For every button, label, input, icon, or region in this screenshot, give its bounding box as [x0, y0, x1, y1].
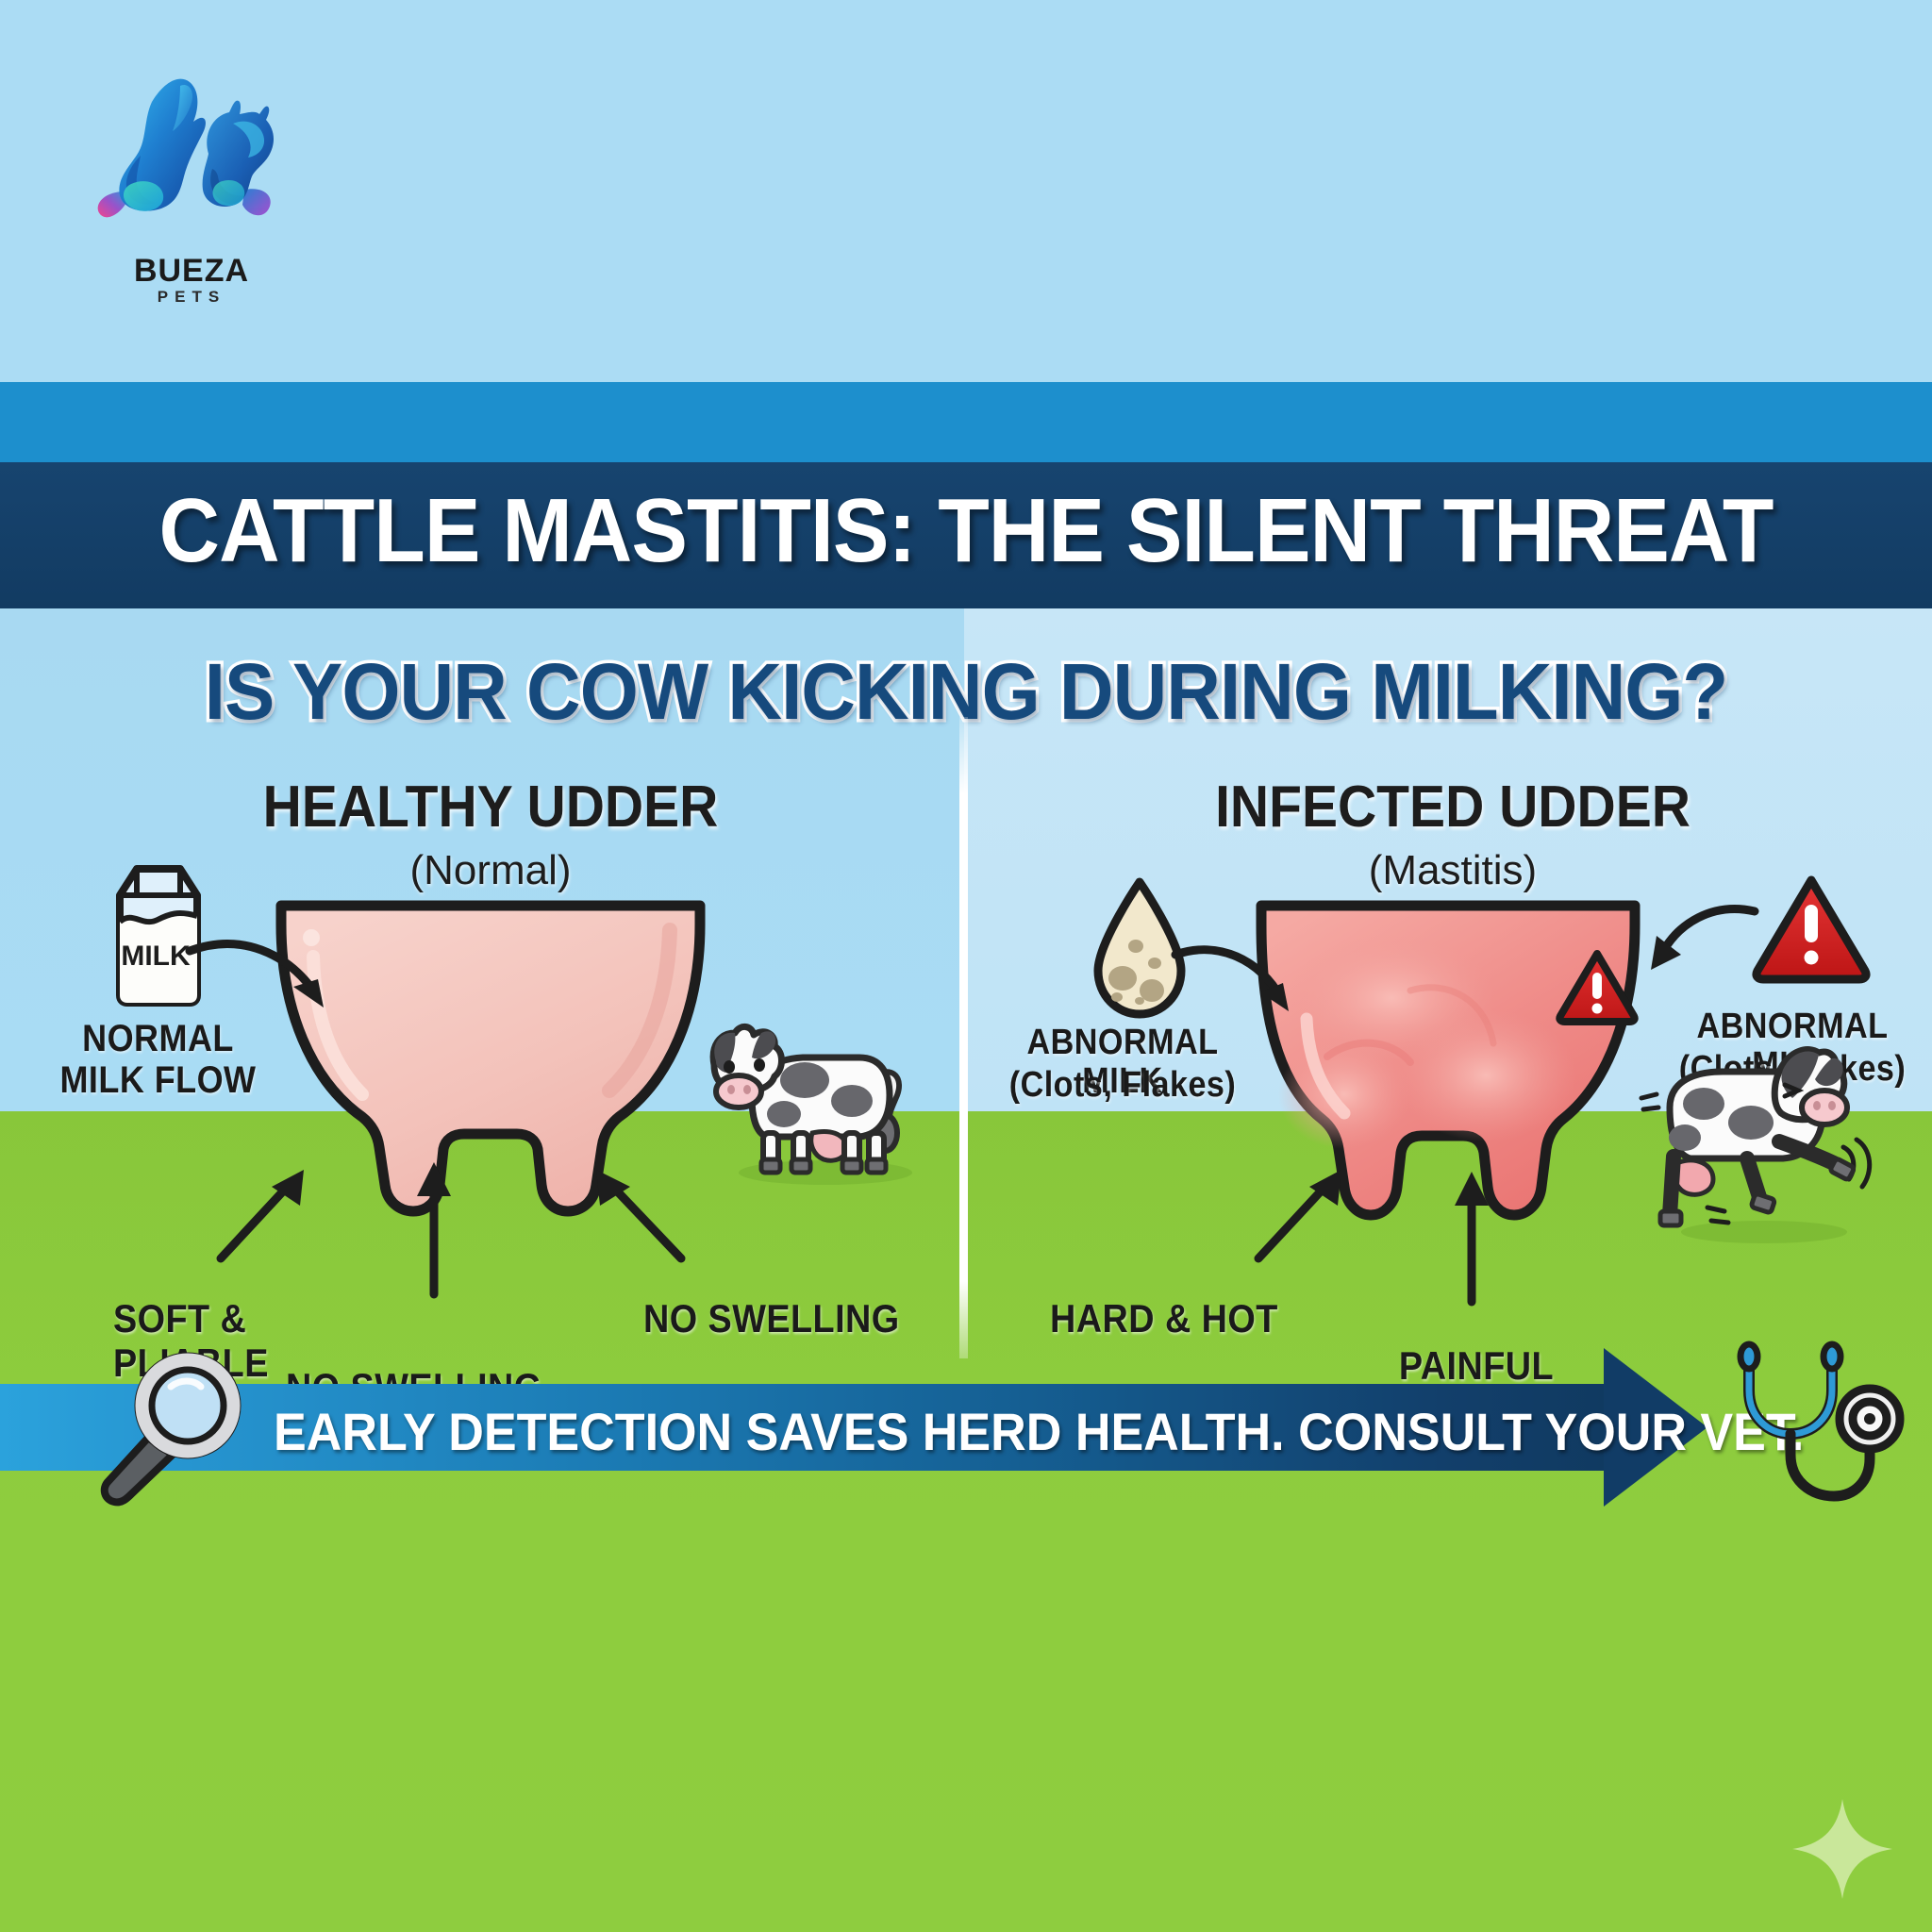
infographic-canvas: BUEZA PETS CATTLE MASTITIS: THE SILENT T…: [0, 0, 1932, 1932]
abnormal-milk-droplet-label-line2: (Clots, Flakes): [1008, 1066, 1238, 1105]
magnifying-glass-icon: [90, 1347, 278, 1512]
healthy-column-subtitle: (Normal): [113, 847, 868, 894]
stethoscope-icon: [1734, 1340, 1904, 1528]
warning-to-udder-arrow-icon: [1621, 898, 1762, 1002]
abnormal-milk-warning-triangle-icon: [1750, 873, 1873, 986]
healthy-cow-illustration: [693, 1014, 939, 1189]
soft-pliable-label-line1: SOFT &: [113, 1297, 246, 1340]
infected-cow-illustration: [1641, 1045, 1901, 1248]
infected-column-title: INFECTED UDDER: [1097, 774, 1808, 841]
column-divider: [959, 717, 968, 1358]
four-point-sparkle-icon: [1790, 1797, 1894, 1901]
milk-to-udder-arrow-icon: [184, 924, 354, 1057]
healthy-column-title: HEALTHY UDDER: [143, 774, 838, 841]
milk-carton-label: MILK: [121, 941, 191, 972]
painful-to-touch-arrow-icon: [1453, 1160, 1491, 1311]
page-title: CATTLE MASTITIS: THE SILENT THREAT: [68, 479, 1865, 583]
soft-pliable-arrow-icon: [206, 1149, 328, 1272]
background-blue-stripe: [0, 382, 1932, 462]
no-swelling-right-label: NO SWELLING: [643, 1297, 900, 1340]
hard-hot-label: HARD & HOT: [1050, 1297, 1278, 1340]
normal-milk-flow-label-line2: MILK FLOW: [54, 1060, 262, 1101]
no-swelling-center-arrow-icon: [415, 1151, 453, 1302]
brand-name: BUEZA: [74, 253, 309, 290]
painful-to-touch-label-line1: PAINFUL: [1349, 1344, 1604, 1387]
cta-banner-text: EARLY DETECTION SAVES HERD HEALTH. CONSU…: [274, 1401, 1502, 1462]
brand-tagline: PETS: [74, 288, 309, 307]
background-sky-top: [0, 0, 1932, 382]
dog-and-cat-logo-icon: [90, 71, 288, 245]
hard-hot-arrow-icon: [1243, 1149, 1366, 1272]
no-swelling-right-arrow-icon: [575, 1149, 698, 1272]
